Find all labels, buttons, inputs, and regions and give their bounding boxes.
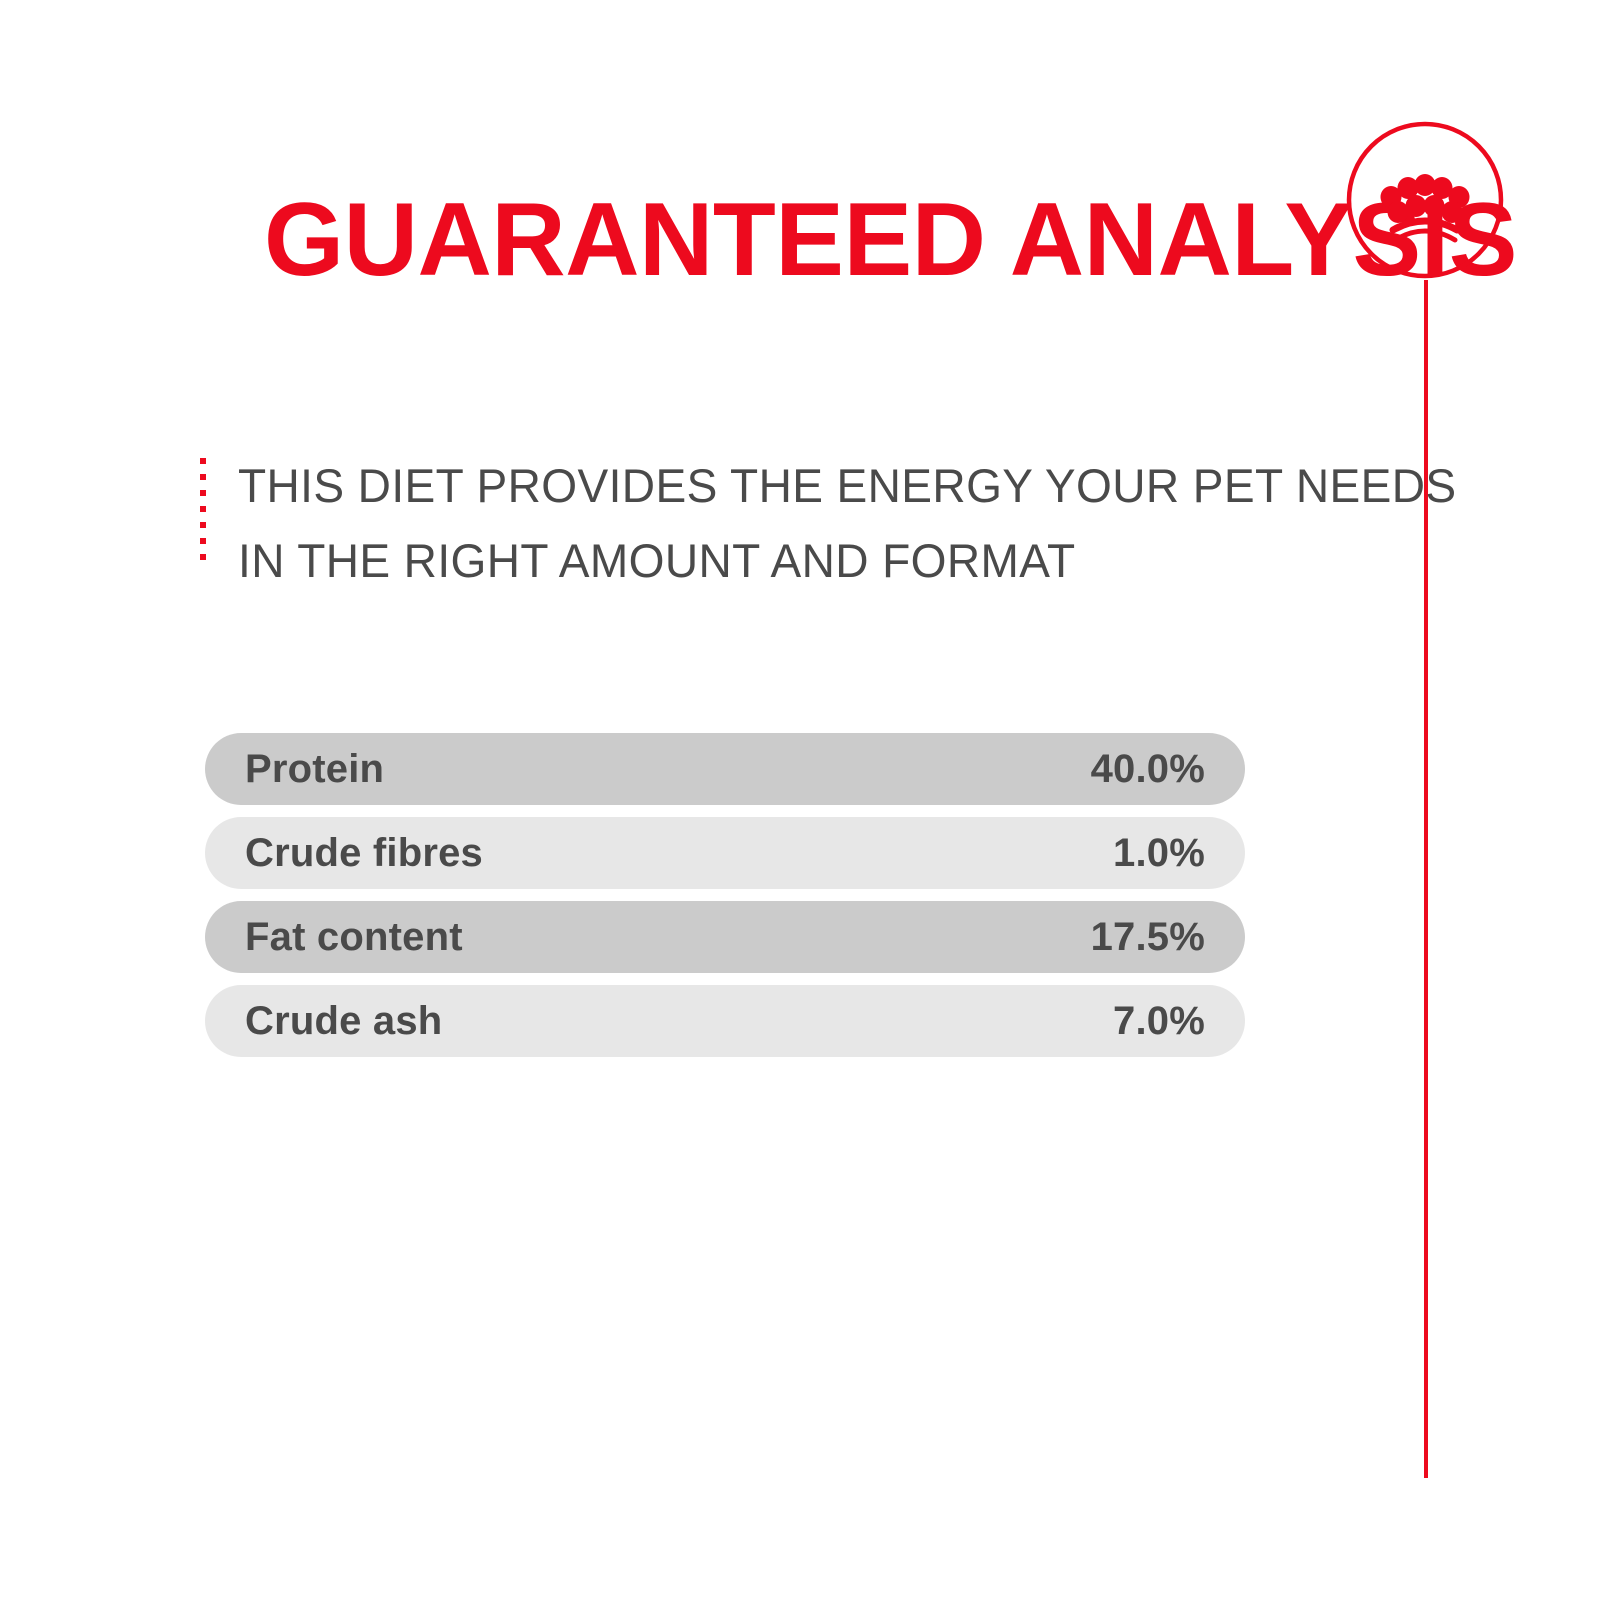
nutrient-label: Protein [245,747,384,791]
dotted-rule-icon [200,458,206,570]
table-row: Protein 40.0% [205,733,1245,805]
nutrient-value: 7.0% [1113,999,1205,1043]
subtitle-text: THIS DIET PROVIDES THE ENERGY YOUR PET N… [238,448,1457,598]
guaranteed-analysis-page: GUARANTEED ANALYSIS THIS DIET PROVIDES T… [0,0,1600,1600]
vertical-line-icon [1424,280,1428,1478]
subtitle-line-1: THIS DIET PROVIDES THE ENERGY YOUR PET N… [238,448,1457,523]
page-title: GUARANTEED ANALYSIS [264,188,1517,292]
nutrient-label: Crude ash [245,999,442,1043]
subtitle-line-2: IN THE RIGHT AMOUNT AND FORMAT [238,523,1457,598]
nutrient-label: Crude fibres [245,831,483,875]
nutrient-label: Fat content [245,915,463,959]
nutrient-value: 17.5% [1091,915,1205,959]
table-row: Fat content 17.5% [205,901,1245,973]
nutrient-value: 40.0% [1091,747,1205,791]
royal-canin-crown-icon [1345,120,1505,280]
analysis-table: Protein 40.0% Crude fibres 1.0% Fat cont… [205,733,1245,1069]
table-row: Crude fibres 1.0% [205,817,1245,889]
nutrient-value: 1.0% [1113,831,1205,875]
table-row: Crude ash 7.0% [205,985,1245,1057]
